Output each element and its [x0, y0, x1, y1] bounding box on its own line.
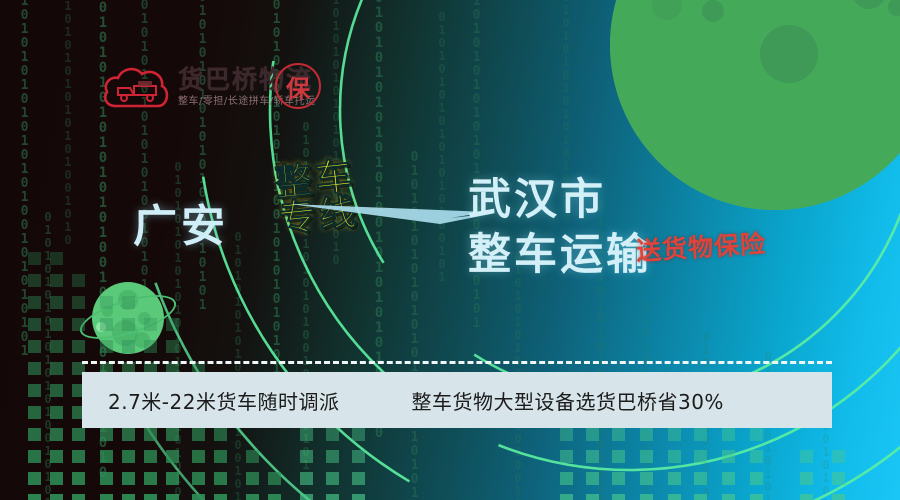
mosaic-square — [50, 274, 63, 287]
mosaic-square — [144, 494, 157, 500]
mosaic-square — [50, 494, 63, 500]
crater-icon — [760, 25, 818, 83]
mosaic-square — [246, 472, 259, 485]
mosaic-square — [122, 428, 135, 441]
mosaic-square — [694, 472, 707, 485]
mosaic-square — [640, 450, 653, 463]
mosaic-square — [122, 450, 135, 463]
bottom-bar-left-text: 2.7米-22米货车随时调派 — [108, 386, 339, 415]
mosaic-square — [28, 362, 41, 375]
binary-column: 010101010101010100101010101 — [18, 0, 31, 310]
mosaic-square — [832, 494, 845, 500]
mosaic-square — [50, 406, 63, 419]
mosaic-square — [214, 494, 227, 500]
planet-large-decoration — [610, 0, 900, 210]
mosaic-square — [28, 274, 41, 287]
mosaic-square — [192, 450, 205, 463]
truck-in-cloud-icon — [100, 60, 172, 114]
mosaic-square — [586, 450, 599, 463]
mosaic-square — [800, 450, 813, 463]
mosaic-square — [800, 494, 813, 500]
destination-city: 武汉市 整车运输 — [468, 173, 652, 283]
binary-column: 010101010101010100101010101 — [232, 230, 244, 500]
mosaic-square — [28, 252, 41, 265]
mosaic-square — [268, 472, 281, 485]
bottom-bar-right-text: 整车货物大型设备选货巴桥省30% — [411, 386, 723, 415]
mosaic-square — [144, 472, 157, 485]
insurance-tag: 送货物保险 — [635, 224, 767, 268]
mosaic-square — [28, 428, 41, 441]
mosaic-square — [100, 450, 113, 463]
mosaic-square — [750, 450, 763, 463]
mosaic-square — [560, 472, 573, 485]
mosaic-square — [72, 450, 85, 463]
mosaic-square — [50, 318, 63, 331]
planet-large-shadow — [610, 0, 900, 210]
mosaic-square — [72, 494, 85, 500]
mosaic-square — [246, 450, 259, 463]
mosaic-square — [326, 494, 339, 500]
mosaic-square — [352, 450, 365, 463]
mosaic-square — [586, 494, 599, 500]
mosaic-square — [640, 472, 653, 485]
mosaic-square — [166, 428, 179, 441]
mosaic-square — [192, 472, 205, 485]
mosaic-square — [50, 450, 63, 463]
mosaic-square — [586, 428, 599, 441]
mosaic-square — [166, 450, 179, 463]
mosaic-square — [72, 428, 85, 441]
mosaic-square — [694, 428, 707, 441]
mosaic-square — [640, 428, 653, 441]
mosaic-square — [612, 428, 625, 441]
mosaic-square — [268, 494, 281, 500]
crater-icon — [702, 0, 724, 22]
mosaic-square — [246, 494, 259, 500]
mosaic-square — [694, 494, 707, 500]
mosaic-square — [586, 472, 599, 485]
mosaic-square — [122, 472, 135, 485]
mosaic-square — [144, 428, 157, 441]
mosaic-square — [144, 450, 157, 463]
mosaic-square — [28, 296, 41, 309]
mosaic-square — [100, 494, 113, 500]
mosaic-square — [326, 450, 339, 463]
mosaic-square — [100, 472, 113, 485]
mosaic-square — [668, 472, 681, 485]
mosaic-square — [560, 428, 573, 441]
dashed-divider — [82, 361, 832, 364]
banner-canvas: 0101010101010101001010101010101010101010… — [0, 0, 900, 500]
mosaic-square — [300, 472, 313, 485]
mosaic-square — [214, 450, 227, 463]
mosaic-square — [100, 428, 113, 441]
mosaic-square — [214, 428, 227, 441]
mosaic-square — [668, 450, 681, 463]
mosaic-square — [722, 472, 735, 485]
mosaic-square — [214, 472, 227, 485]
mosaic-square — [50, 472, 63, 485]
mosaic-square — [832, 472, 845, 485]
mosaic-square — [300, 494, 313, 500]
mosaic-square — [50, 296, 63, 309]
mosaic-square — [560, 494, 573, 500]
mosaic-square — [612, 494, 625, 500]
mosaic-square — [612, 472, 625, 485]
mosaic-square — [640, 494, 653, 500]
planet-small-decoration — [80, 278, 176, 358]
mosaic-square — [722, 450, 735, 463]
mosaic-square — [122, 494, 135, 500]
mosaic-square — [192, 428, 205, 441]
mosaic-square — [352, 472, 365, 485]
mosaic-square — [722, 494, 735, 500]
mosaic-square — [28, 340, 41, 353]
mosaic-square — [668, 428, 681, 441]
insurance-badge: 保 — [275, 63, 321, 109]
bottom-info-bar: 2.7米-22米货车随时调派 整车货物大型设备选货巴桥省30% — [82, 372, 832, 428]
mosaic-square — [28, 318, 41, 331]
mosaic-square — [166, 494, 179, 500]
binary-column: 0101010101010101001010 — [62, 0, 74, 200]
mosaic-square — [800, 472, 813, 485]
binary-column: 010101010101010100101010101 — [42, 210, 54, 500]
crater-icon — [134, 332, 150, 348]
destination-line2: 整车运输 — [468, 228, 652, 283]
binary-column: 010101010101010100 — [560, 0, 572, 190]
mosaic-square — [28, 494, 41, 500]
mosaic-square — [326, 428, 339, 441]
mosaic-square — [72, 472, 85, 485]
mosaic-square — [612, 450, 625, 463]
mosaic-square — [300, 450, 313, 463]
mosaic-square — [28, 472, 41, 485]
mosaic-square — [50, 252, 63, 265]
mosaic-square — [722, 428, 735, 441]
mosaic-square — [750, 472, 763, 485]
mosaic-square — [28, 384, 41, 397]
mosaic-square — [192, 494, 205, 500]
mosaic-square — [326, 472, 339, 485]
mosaic-square — [28, 406, 41, 419]
mosaic-square — [832, 450, 845, 463]
mosaic-square — [352, 494, 365, 500]
mosaic-square — [352, 428, 365, 441]
origin-city: 广安 — [133, 190, 229, 254]
mosaic-square — [560, 450, 573, 463]
mosaic-square — [694, 450, 707, 463]
mosaic-square — [50, 428, 63, 441]
mosaic-square — [668, 494, 681, 500]
mosaic-square — [750, 428, 763, 441]
mosaic-square — [50, 340, 63, 353]
binary-column: 01010101010101010010101010101010 — [372, 0, 386, 380]
mosaic-square — [166, 472, 179, 485]
destination-line1: 武汉市 — [468, 173, 652, 228]
mosaic-square — [300, 428, 313, 441]
mosaic-square — [50, 362, 63, 375]
mosaic-square — [750, 494, 763, 500]
mosaic-square — [28, 450, 41, 463]
mosaic-square — [50, 384, 63, 397]
